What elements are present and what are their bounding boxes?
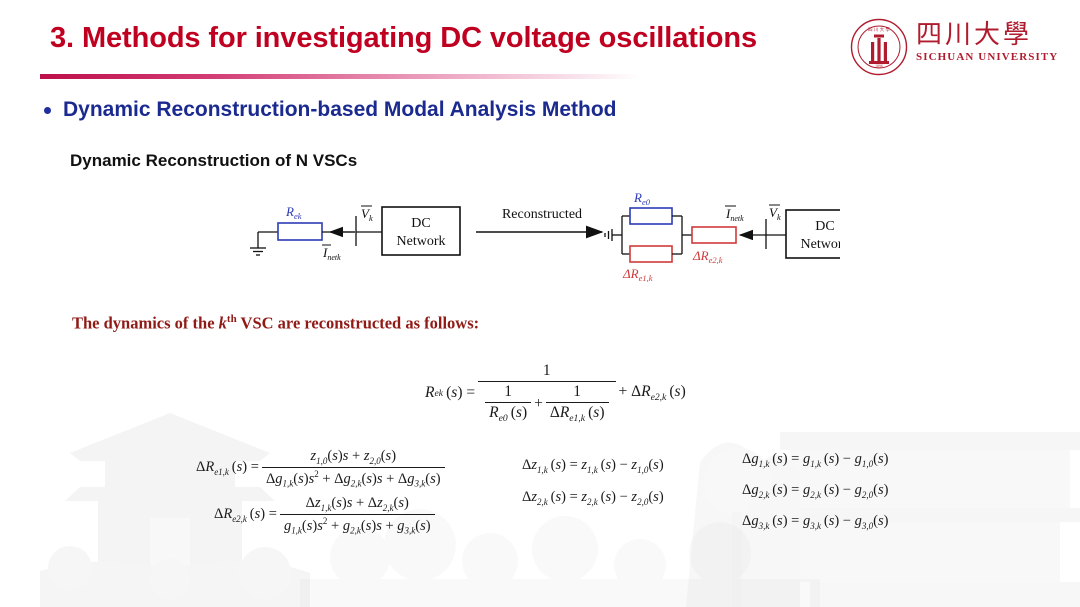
university-seal-icon: 1896 四 川 大 學 [850,18,908,76]
equation-main: Rek (s) = 1 1 Re0 (s) + 1 ΔRe1,k (s) + Δ… [425,362,686,424]
dc-network-line2-right: Network [801,237,841,252]
resistor-rek [278,223,322,240]
dc-network-line1-right: DC [815,219,834,234]
statement-th: th [227,313,237,325]
ground-icon-right [605,229,622,241]
svg-text:Inetk: Inetk [725,206,744,223]
equation-dre1k: ΔRe1,k (s) = z1,0(s)s + z2,0(s) Δg1,k(s)… [196,448,448,489]
equation-block-middle: Δz1,k (s) = z1,k (s) − z1,0(s) Δz2,k (s)… [522,452,664,516]
equation-block-right: Δg1,k (s) = g1,k (s) − g1,0(s) Δg2,k (s)… [742,446,888,539]
equation-dg3k: Δg3,k (s) = g3,k (s) − g3,0(s) [742,508,888,539]
equation-dz2k: Δz2,k (s) = z2,k (s) − z2,0(s) [522,484,664,516]
university-logo: 1896 四 川 大 學 四川大學 SICHUAN UNIVERSITY [850,18,1062,80]
logo-english-name: SICHUAN UNIVERSITY [916,51,1062,63]
statement-k: k [219,314,227,333]
svg-text:Vk: Vk [769,205,781,222]
equation-dre2k: ΔRe2,k (s) = Δz1,k(s)s + Δz2,k(s) g1,k(s… [196,495,448,536]
ground-icon-left [250,232,266,255]
svg-text:1896: 1896 [875,64,883,69]
logo-chinese-name: 四川大學 [916,20,1062,50]
svg-text:Vk: Vk [361,206,373,223]
statement-suffix: VSC are reconstructed as follows: [237,314,479,333]
equation-dz1k: Δz1,k (s) = z1,k (s) − z1,0(s) [522,452,664,484]
label-re0: Re0 [633,190,651,207]
title-underline-bar [40,74,640,79]
section-subheading: Dynamic Reconstruction of N VSCs [70,151,357,171]
dc-network-line1-left: DC [411,216,430,231]
reconstructed-transition: Reconstructed [476,207,602,232]
bullet-dot-icon [44,107,51,114]
label-inetk-right: Inetk [725,206,744,223]
statement-line: The dynamics of the kth VSC are reconstr… [72,313,479,334]
equation-dg2k: Δg2,k (s) = g2,k (s) − g2,0(s) [742,477,888,508]
circuit-diagram: Rek Vk Inetk DC Network Reconstruc [230,190,840,300]
label-vk-left: Vk [361,206,373,223]
equation-block-left: ΔRe1,k (s) = z1,0(s)s + z2,0(s) Δg1,k(s)… [196,448,448,541]
dc-network-line2-left: Network [397,234,446,249]
svg-text:四 川 大 學: 四 川 大 學 [868,26,890,33]
label-rek: Rek [285,204,302,221]
slide-canvas: 3. Methods for investigating DC voltage … [0,0,1080,607]
resistor-dre2k [692,227,736,243]
left-circuit-group: Rek Vk Inetk DC Network [250,204,460,262]
bullet-heading-text: Dynamic Reconstruction-based Modal Analy… [63,98,617,122]
resistor-re0 [630,208,672,224]
label-dre1k: ΔRe1,k [622,266,653,283]
page-title: 3. Methods for investigating DC voltage … [50,22,757,55]
reconstructed-label: Reconstructed [502,207,582,222]
equation-dg1k: Δg1,k (s) = g1,k (s) − g1,0(s) [742,446,888,477]
statement-prefix: The dynamics of the [72,314,219,333]
svg-text:Inetk: Inetk [322,245,341,262]
label-inetk-left: Inetk [322,245,341,262]
right-circuit-group: Re0 ΔRe1,k ΔRe2,k Inetk Vk [605,190,840,283]
label-vk-right: Vk [769,205,781,222]
resistor-dre1k [630,246,672,262]
bullet-heading-row: Dynamic Reconstruction-based Modal Analy… [44,98,617,122]
label-dre2k: ΔRe2,k [692,248,723,265]
